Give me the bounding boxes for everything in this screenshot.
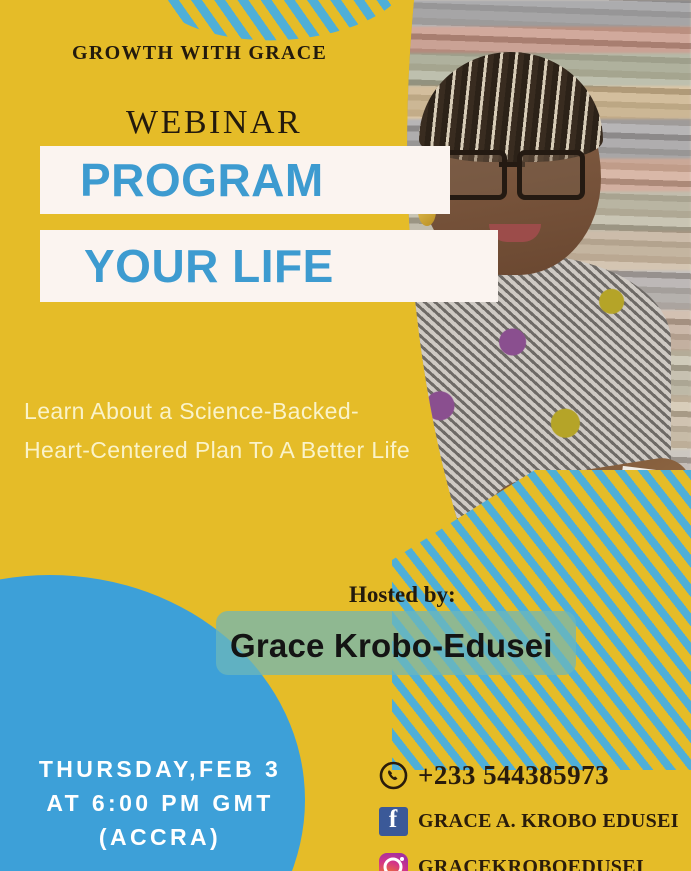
instagram-handle: GRACEKROBOEDUSEI [418,856,644,871]
tagline: Learn About a Science-Backed-Heart-Cente… [24,392,424,470]
title-line-1: PROGRAM [40,146,450,214]
event-datetime: THURSDAY,FEB 3 AT 6:00 PM GMT (ACCRA) [0,752,320,854]
datetime-line-2: AT 6:00 PM GMT [0,786,320,820]
facebook-icon [378,806,408,836]
eyeglasses [439,150,585,190]
webinar-poster: GROWTH WITH GRACE WEBINAR PROGRAM YOUR L… [0,0,691,871]
event-type-label: WEBINAR [126,104,302,142]
title-line-2: YOUR LIFE [40,230,498,302]
striped-arc-decoration-top [150,0,414,47]
facebook-handle: GRACE A. KROBO EDUSEI [418,810,679,833]
host-name: Grace Krobo-Edusei [230,627,553,665]
brand-name: GROWTH WITH GRACE [72,42,327,65]
contact-row-instagram[interactable]: GRACEKROBOEDUSEI [378,844,691,871]
phone-icon [378,760,408,790]
hosted-by-label: Hosted by: [349,582,456,608]
contact-row-phone[interactable]: +233 544385973 [378,752,691,798]
instagram-icon [378,852,408,871]
phone-number: +233 544385973 [418,760,609,791]
contact-list: +233 544385973 GRACE A. KROBO EDUSEI GRA… [378,752,691,871]
datetime-line-3: (ACCRA) [0,820,320,854]
datetime-line-1: THURSDAY,FEB 3 [0,752,320,786]
contact-row-facebook[interactable]: GRACE A. KROBO EDUSEI [378,798,691,844]
